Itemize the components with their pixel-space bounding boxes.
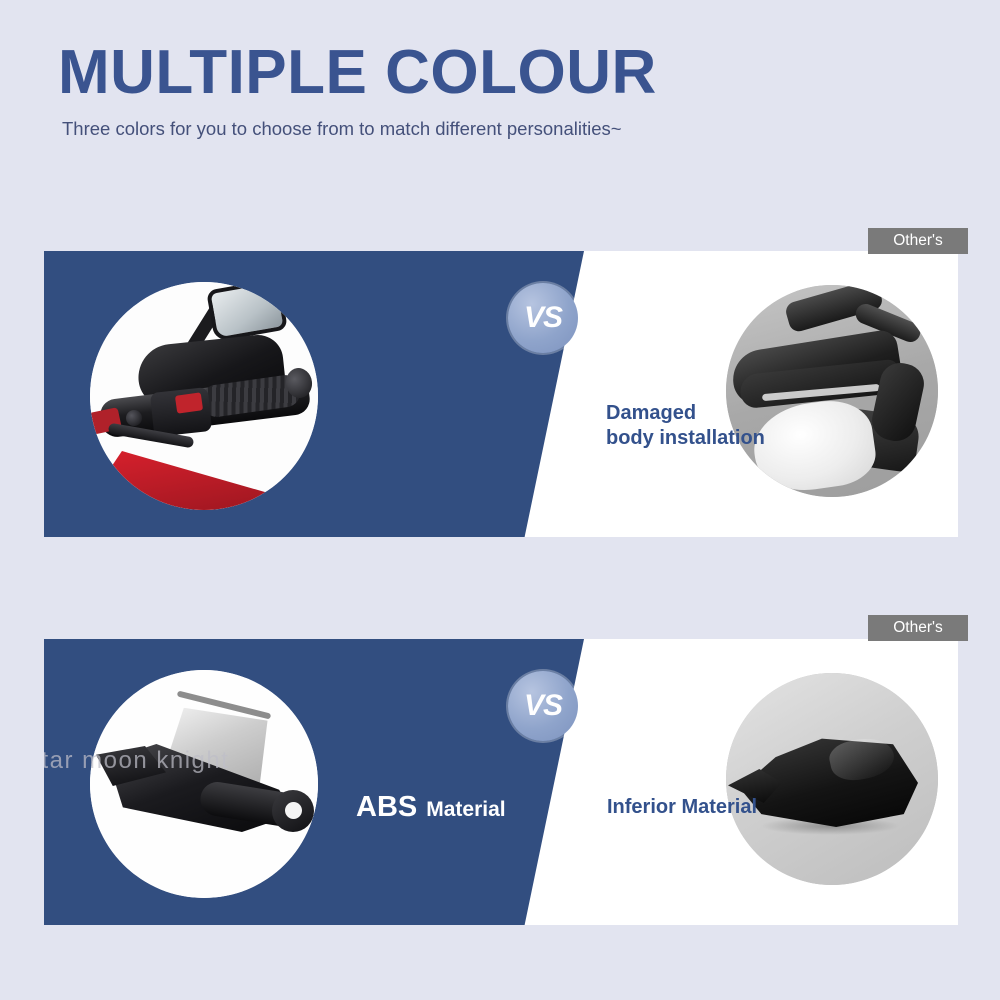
vs-label: VS <box>524 689 562 723</box>
brand-watermark: star moon knight <box>44 747 229 775</box>
comparison-panel-installation: VS Lossless Installation Damaged body in… <box>44 251 958 537</box>
others-badge-material: Other's <box>868 615 968 641</box>
abs-material-label: ABS Material <box>356 791 506 824</box>
label-line-2: body installation <box>606 426 765 451</box>
vs-label: VS <box>524 301 562 335</box>
abs-primary-label: ABS <box>356 791 417 824</box>
inferior-handguard-photo <box>726 673 938 885</box>
damaged-installation-label: Damaged body installation <box>606 401 765 451</box>
label-line-1: Inferior Material <box>607 795 757 820</box>
inferior-material-label: Inferior Material <box>607 795 757 820</box>
damaged-installation-photo <box>726 285 938 497</box>
comparison-panel-material: star moon knight VS ABS Material Inferio… <box>44 639 958 925</box>
vs-badge-installation: VS <box>508 283 578 353</box>
handlebar-mirror-grip-photo <box>90 282 318 510</box>
label-line-1: Damaged <box>606 401 765 426</box>
page-title: MULTIPLE COLOUR <box>58 42 657 104</box>
others-badge-installation: Other's <box>868 228 968 254</box>
page-subtitle: Three colors for you to choose from to m… <box>62 118 622 140</box>
vs-badge-material: VS <box>508 671 578 741</box>
abs-secondary-label: Material <box>426 798 505 822</box>
abs-handguard-visor-photo <box>90 670 318 898</box>
